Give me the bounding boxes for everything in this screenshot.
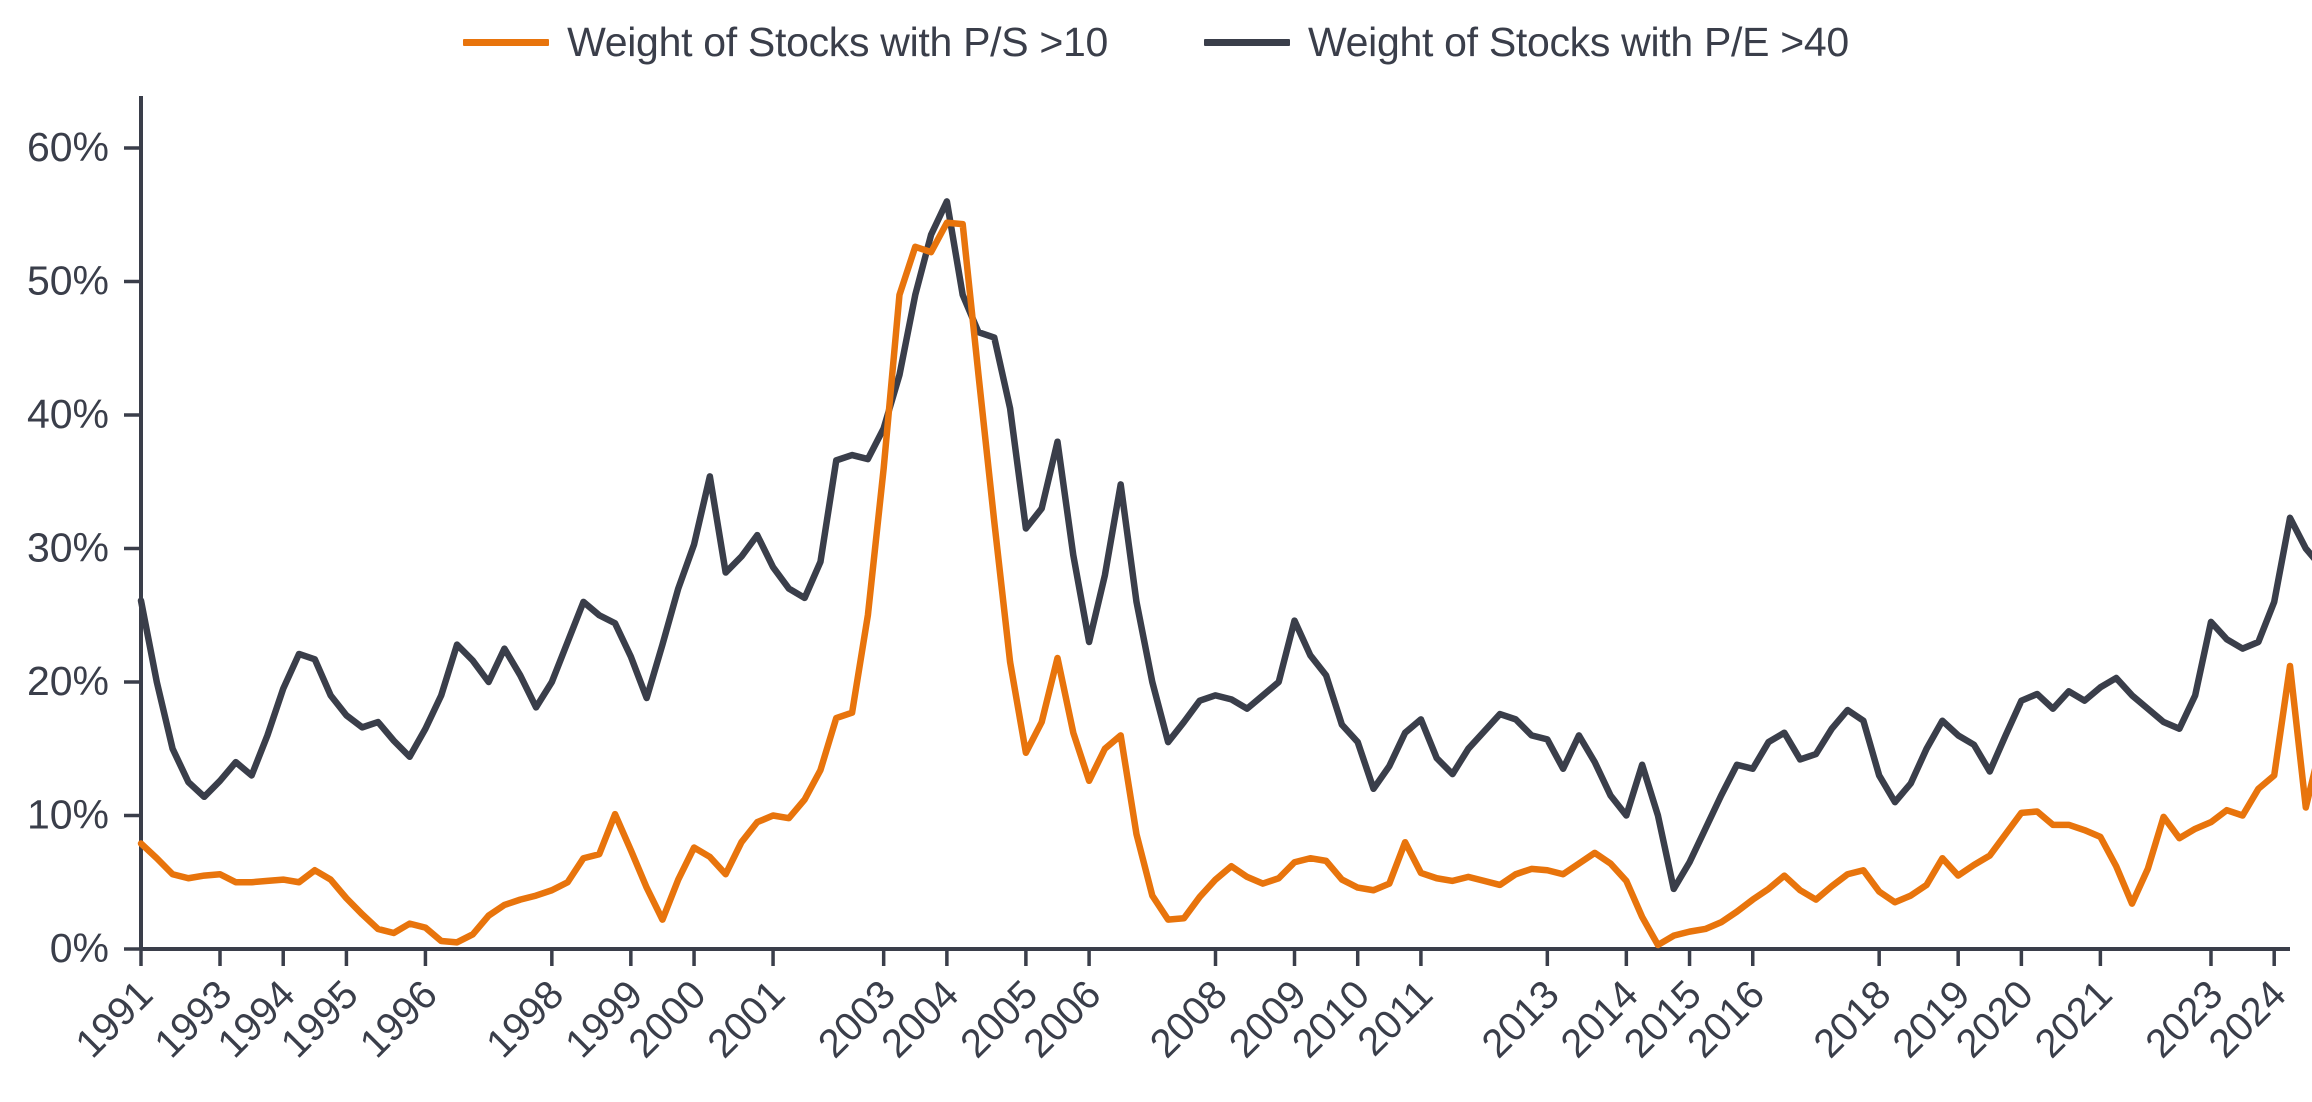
x-tick-label: 2008 — [1142, 972, 1236, 1066]
x-tick-label: 1996 — [352, 972, 446, 1066]
series-lines — [141, 201, 2312, 945]
x-tick-label: 2013 — [1474, 972, 1568, 1066]
y-tick-label: 20% — [27, 658, 109, 704]
x-tick-label: 2018 — [1805, 972, 1899, 1066]
y-tick-label: 0% — [50, 925, 109, 971]
x-tick-label: 1998 — [478, 972, 572, 1066]
x-tick-label: 2011 — [1349, 972, 1441, 1064]
series-line-pe — [141, 201, 2312, 889]
plot-area: 0%10%20%30%40%50%60% 1991199319941995199… — [0, 0, 2312, 1102]
x-tick-label: 2021 — [2027, 972, 2121, 1066]
y-tick-label: 30% — [27, 524, 109, 570]
y-tick-label: 50% — [27, 257, 109, 303]
series-line-ps — [141, 223, 2312, 945]
x-tick-label: 1991 — [67, 972, 161, 1066]
y-axis-ticks: 0%10%20%30%40%50%60% — [27, 124, 141, 971]
chart-page: Weight of Stocks with P/S >10 Weight of … — [0, 0, 2312, 1102]
y-tick-label: 40% — [27, 391, 109, 437]
y-tick-label: 60% — [27, 124, 109, 170]
x-tick-label: 2001 — [699, 972, 793, 1066]
x-axis-ticks: 1991199319941995199619981999200020012003… — [67, 949, 2294, 1066]
y-tick-label: 10% — [27, 791, 109, 837]
line-chart: 0%10%20%30%40%50%60% 1991199319941995199… — [0, 0, 2312, 1102]
